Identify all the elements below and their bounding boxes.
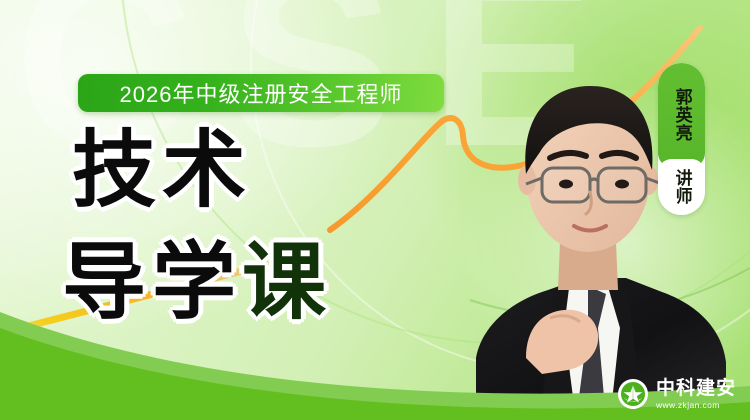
instructor-badge: 郭英亮 讲师 bbox=[658, 63, 705, 215]
brand-logo: 中科建安 www.zkjan.com bbox=[618, 379, 736, 410]
headline-line-2-accent: 课 bbox=[242, 235, 332, 329]
instructor-role: 讲师 bbox=[672, 169, 690, 205]
brand-name: 中科建安 bbox=[656, 379, 736, 399]
instructor-name: 郭英亮 bbox=[672, 88, 690, 142]
headline-line-2: 导学课 bbox=[62, 243, 332, 323]
headline-line-2-main: 导学 bbox=[62, 235, 242, 329]
brand-url: www.zkjan.com bbox=[656, 400, 736, 410]
instructor-role-block: 讲师 bbox=[658, 159, 705, 215]
course-poster: CSE bbox=[0, 0, 750, 420]
brand-text-block: 中科建安 www.zkjan.com bbox=[656, 379, 736, 410]
course-title-pill: 2026年中级注册安全工程师 bbox=[78, 74, 444, 112]
headline-line-1: 技术 bbox=[72, 131, 252, 211]
instructor-name-block: 郭英亮 bbox=[658, 63, 705, 167]
course-title-text: 2026年中级注册安全工程师 bbox=[120, 77, 403, 109]
zkjan-logo-icon bbox=[618, 379, 648, 409]
